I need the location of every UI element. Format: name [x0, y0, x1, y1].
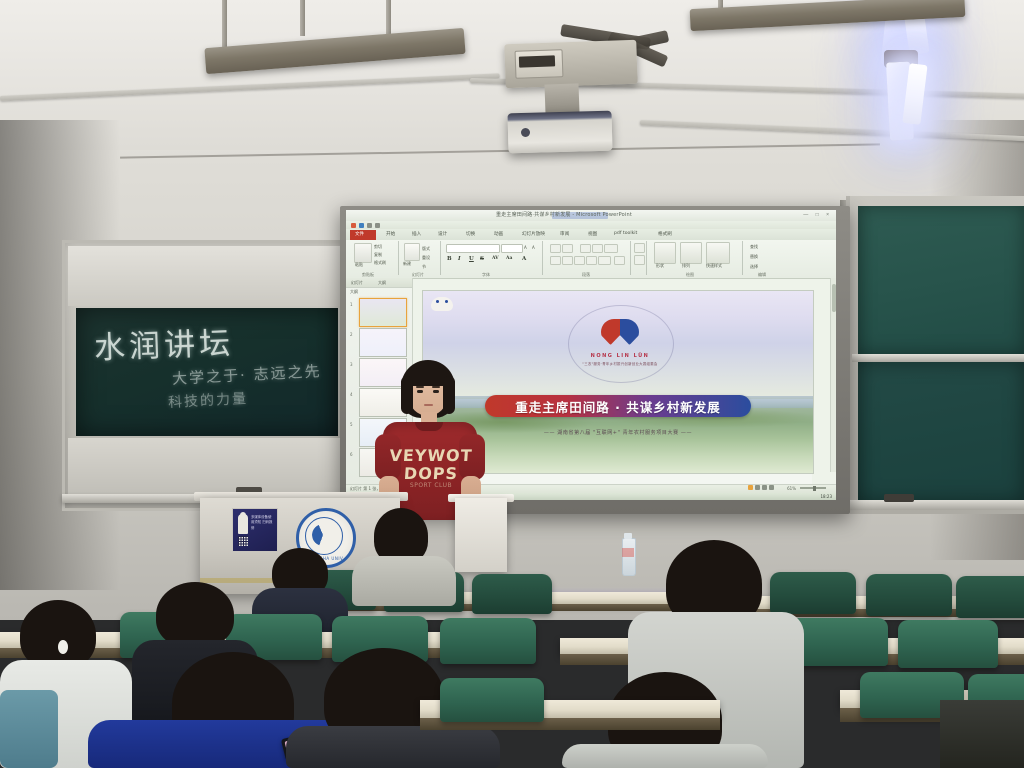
- arrange-button[interactable]: [680, 242, 702, 264]
- arrange-label: 排列: [682, 263, 690, 269]
- qr-code-icon[interactable]: [238, 536, 248, 546]
- cut-label[interactable]: 剪切: [374, 244, 382, 250]
- quick-styles-button[interactable]: [706, 242, 730, 264]
- right-board-chalk-ledge: [846, 500, 1024, 510]
- left-blackboard: 水润讲坛 大学之于· 志远之先 科技的力量: [76, 308, 338, 436]
- copy-label[interactable]: 复制: [374, 252, 382, 258]
- projector-lens-icon: [521, 128, 530, 137]
- slide-logo-name: NONG LIN LÜN: [575, 353, 665, 359]
- tab-insert[interactable]: 插入: [412, 231, 421, 237]
- numbering-button[interactable]: [562, 244, 573, 253]
- grow-font-icon[interactable]: A: [524, 245, 527, 250]
- ppt-window-title: 重走主席田间路·共谋乡村新发展 - Microsoft PowerPoint: [496, 211, 632, 218]
- slide-logo-tagline: "三农"服务·青年乡村振兴创新创业大赛组委会: [563, 361, 677, 366]
- ribbon-divider: [630, 241, 631, 275]
- line-spacing-button[interactable]: [604, 244, 618, 253]
- reading-view-icon[interactable]: [762, 485, 767, 490]
- ribbon-divider: [646, 241, 647, 275]
- slide-number: 5: [350, 422, 353, 427]
- seat[interactable]: [440, 618, 536, 664]
- ribbon-divider: [398, 241, 399, 275]
- decrease-indent-button[interactable]: [580, 244, 591, 253]
- person-pictogram-head-icon: [240, 512, 246, 518]
- window-controls[interactable]: — □ ×: [803, 212, 832, 218]
- projector-mount: [544, 83, 579, 114]
- light-stem: [222, 0, 227, 48]
- tab-view[interactable]: 视图: [588, 231, 597, 237]
- logo-inner-shape: [431, 297, 453, 311]
- water-bottle[interactable]: [622, 538, 636, 576]
- new-slide-label: 新建: [403, 261, 411, 267]
- tab-design[interactable]: 设计: [438, 231, 447, 237]
- format-painter-label[interactable]: 格式刷: [374, 260, 386, 266]
- ribbon-divider: [742, 241, 743, 275]
- zoom-level-text[interactable]: 61%: [787, 486, 796, 491]
- strikethrough-button[interactable]: S: [480, 256, 484, 262]
- slide-number: 2: [350, 332, 353, 337]
- student-bag: [0, 690, 58, 768]
- presenter-eye: [433, 390, 439, 393]
- tab-animations[interactable]: 动画: [494, 231, 503, 237]
- font-family-select[interactable]: [446, 244, 500, 253]
- bold-button[interactable]: B: [447, 256, 452, 262]
- columns-button[interactable]: [598, 256, 611, 265]
- chalk-eraser[interactable]: [884, 494, 914, 502]
- tab-pdf-toolkit[interactable]: pdf toolkit: [614, 231, 637, 236]
- tab-format[interactable]: 格式刷: [658, 231, 672, 237]
- ribbon-divider: [440, 241, 441, 275]
- slide-thumbnail-1[interactable]: [359, 298, 407, 327]
- right-chalkboard-lower: [858, 362, 1024, 502]
- layout-label[interactable]: 版式: [422, 246, 430, 252]
- shirt-text-line-3: SPORT CLUB: [389, 482, 473, 489]
- group-label-slides: 幻灯片: [412, 272, 424, 278]
- slide-logo: [601, 319, 639, 349]
- tab-slides[interactable]: 幻灯片: [351, 280, 363, 286]
- redo-icon[interactable]: [367, 223, 372, 228]
- slide-title-text: 重走主席田间路 · 共谋乡村新发展: [515, 397, 720, 416]
- find-label[interactable]: 查找: [750, 244, 758, 250]
- logo-right-half: [620, 319, 639, 345]
- paste-label: 粘贴: [355, 262, 363, 268]
- seat[interactable]: [866, 574, 952, 616]
- equipment-vent-slot: [519, 55, 555, 67]
- ribbon-divider: [542, 241, 543, 275]
- smartart-button[interactable]: [634, 243, 645, 253]
- save-icon[interactable]: [351, 223, 356, 228]
- group-label-editing: 编辑: [758, 272, 766, 278]
- select-label[interactable]: 选择: [750, 264, 758, 270]
- seat[interactable]: [956, 576, 1024, 618]
- tab-transitions[interactable]: 切换: [466, 231, 475, 237]
- normal-view-icon[interactable]: [748, 485, 753, 490]
- align-right-button[interactable]: [574, 256, 585, 265]
- emblem-wave-icon: [312, 524, 334, 546]
- left-board-top-panel: [68, 246, 346, 306]
- slide-title-banner: 重走主席田间路 · 共谋乡村新发展: [485, 395, 751, 417]
- seat[interactable]: [770, 572, 856, 614]
- group-label-paragraph: 段落: [582, 272, 590, 278]
- podium-sign-text: 多媒体设备使用须知 扫码报修: [251, 515, 273, 531]
- student-torso: [562, 744, 768, 768]
- font-color-button[interactable]: A: [522, 256, 526, 262]
- right-board-divider-rail: [852, 354, 1024, 362]
- zoom-slider-knob[interactable]: [813, 486, 816, 491]
- shapes-label: 形状: [656, 263, 664, 269]
- blackboard-subtitle-1: 大学之于· 志远之先: [172, 360, 322, 389]
- slide-subtitle-text: —— 湖南省第八届 "互联网+" 青年农村服务项目大赛 ——: [544, 430, 692, 436]
- shirt-text-line-1: VEYWOT: [388, 446, 473, 465]
- floor-shadow: [940, 700, 1024, 768]
- quick-access-toolbar[interactable]: [346, 221, 836, 229]
- slide-number: 4: [350, 392, 353, 397]
- shrink-font-icon[interactable]: A: [532, 245, 535, 250]
- change-case-button[interactable]: Aa: [506, 256, 512, 261]
- increase-indent-button[interactable]: [592, 244, 603, 253]
- slide-sorter-icon[interactable]: [755, 485, 760, 490]
- group-label-font: 字体: [482, 272, 490, 278]
- logo-left-half: [601, 319, 620, 345]
- student-torso: [286, 726, 500, 768]
- lectern: [455, 498, 507, 572]
- text-direction-button[interactable]: [614, 256, 625, 265]
- slide-number: 6: [350, 452, 353, 457]
- light-stem: [386, 0, 391, 34]
- right-chalkboard-upper: [858, 206, 1024, 354]
- convert-smartart-button[interactable]: [634, 255, 645, 265]
- group-label-drawing: 绘图: [686, 272, 694, 278]
- student-head: [156, 582, 234, 648]
- blackboard-title: 水润讲坛: [93, 318, 234, 368]
- light-stem: [300, 0, 305, 36]
- bottle-cap: [624, 533, 632, 539]
- replace-label[interactable]: 替换: [750, 254, 758, 260]
- bullets-button[interactable]: [550, 244, 561, 253]
- align-center-button[interactable]: [562, 256, 573, 265]
- shirt-text-line-2: DOPS: [388, 464, 473, 483]
- slide-number: 3: [350, 362, 353, 367]
- undo-icon[interactable]: [359, 223, 364, 228]
- tab-slideshow[interactable]: 幻灯片放映: [522, 231, 545, 237]
- quick-styles-label: 快速样式: [706, 263, 722, 269]
- presenter-mouth: [424, 404, 433, 406]
- scrollbar-thumb[interactable]: [832, 284, 836, 312]
- view-mode-buttons[interactable]: [748, 485, 774, 490]
- slide-subtitle-wrap: —— 湖南省第八届 "互联网+" 青年农村服务项目大赛 ——: [485, 421, 751, 439]
- student-torso: [352, 556, 456, 606]
- seat[interactable]: [472, 574, 552, 614]
- align-left-button[interactable]: [550, 256, 561, 265]
- seat[interactable]: [440, 678, 544, 722]
- taskbar-clock[interactable]: 18:23: [820, 494, 832, 499]
- presenter-eye: [417, 390, 423, 393]
- earbud-icon: [58, 640, 68, 654]
- italic-button[interactable]: I: [458, 256, 461, 262]
- presenter-eyebrow: [416, 386, 424, 388]
- character-spacing-button[interactable]: AV: [492, 256, 499, 261]
- paste-button[interactable]: [354, 243, 372, 263]
- tab-file-label: 文件: [355, 231, 364, 237]
- left-board-bottom-panel: [68, 438, 346, 496]
- presenter-hair-side: [401, 376, 413, 414]
- reset-label[interactable]: 重设: [422, 255, 430, 261]
- outline-root-label: 大纲: [350, 289, 358, 295]
- font-size-select[interactable]: [501, 244, 523, 253]
- justify-button[interactable]: [586, 256, 597, 265]
- underline-button[interactable]: U: [469, 256, 474, 262]
- presenter-hair-side: [443, 376, 455, 414]
- tab-outline[interactable]: 大纲: [378, 280, 386, 286]
- slideshow-icon[interactable]: [769, 485, 774, 490]
- blackboard-subtitle-2: 科技的力量: [168, 388, 249, 412]
- shapes-gallery[interactable]: [654, 242, 676, 264]
- classroom-scene: 水润讲坛 大学之于· 志远之先 科技的力量 重走主席田间路·共谋乡村新发展 - …: [0, 0, 1024, 768]
- seat[interactable]: [898, 620, 998, 668]
- presenter-eyebrow: [432, 386, 440, 388]
- slide-number: 1: [350, 302, 353, 307]
- new-slide-button[interactable]: [404, 243, 420, 261]
- tab-review[interactable]: 审阅: [560, 231, 569, 237]
- section-label[interactable]: 节: [422, 264, 426, 270]
- bottle-label: [622, 548, 634, 557]
- customize-qat-icon[interactable]: [375, 223, 380, 228]
- slide-thumbnail-2[interactable]: [359, 328, 407, 357]
- tab-home[interactable]: 开始: [386, 231, 395, 237]
